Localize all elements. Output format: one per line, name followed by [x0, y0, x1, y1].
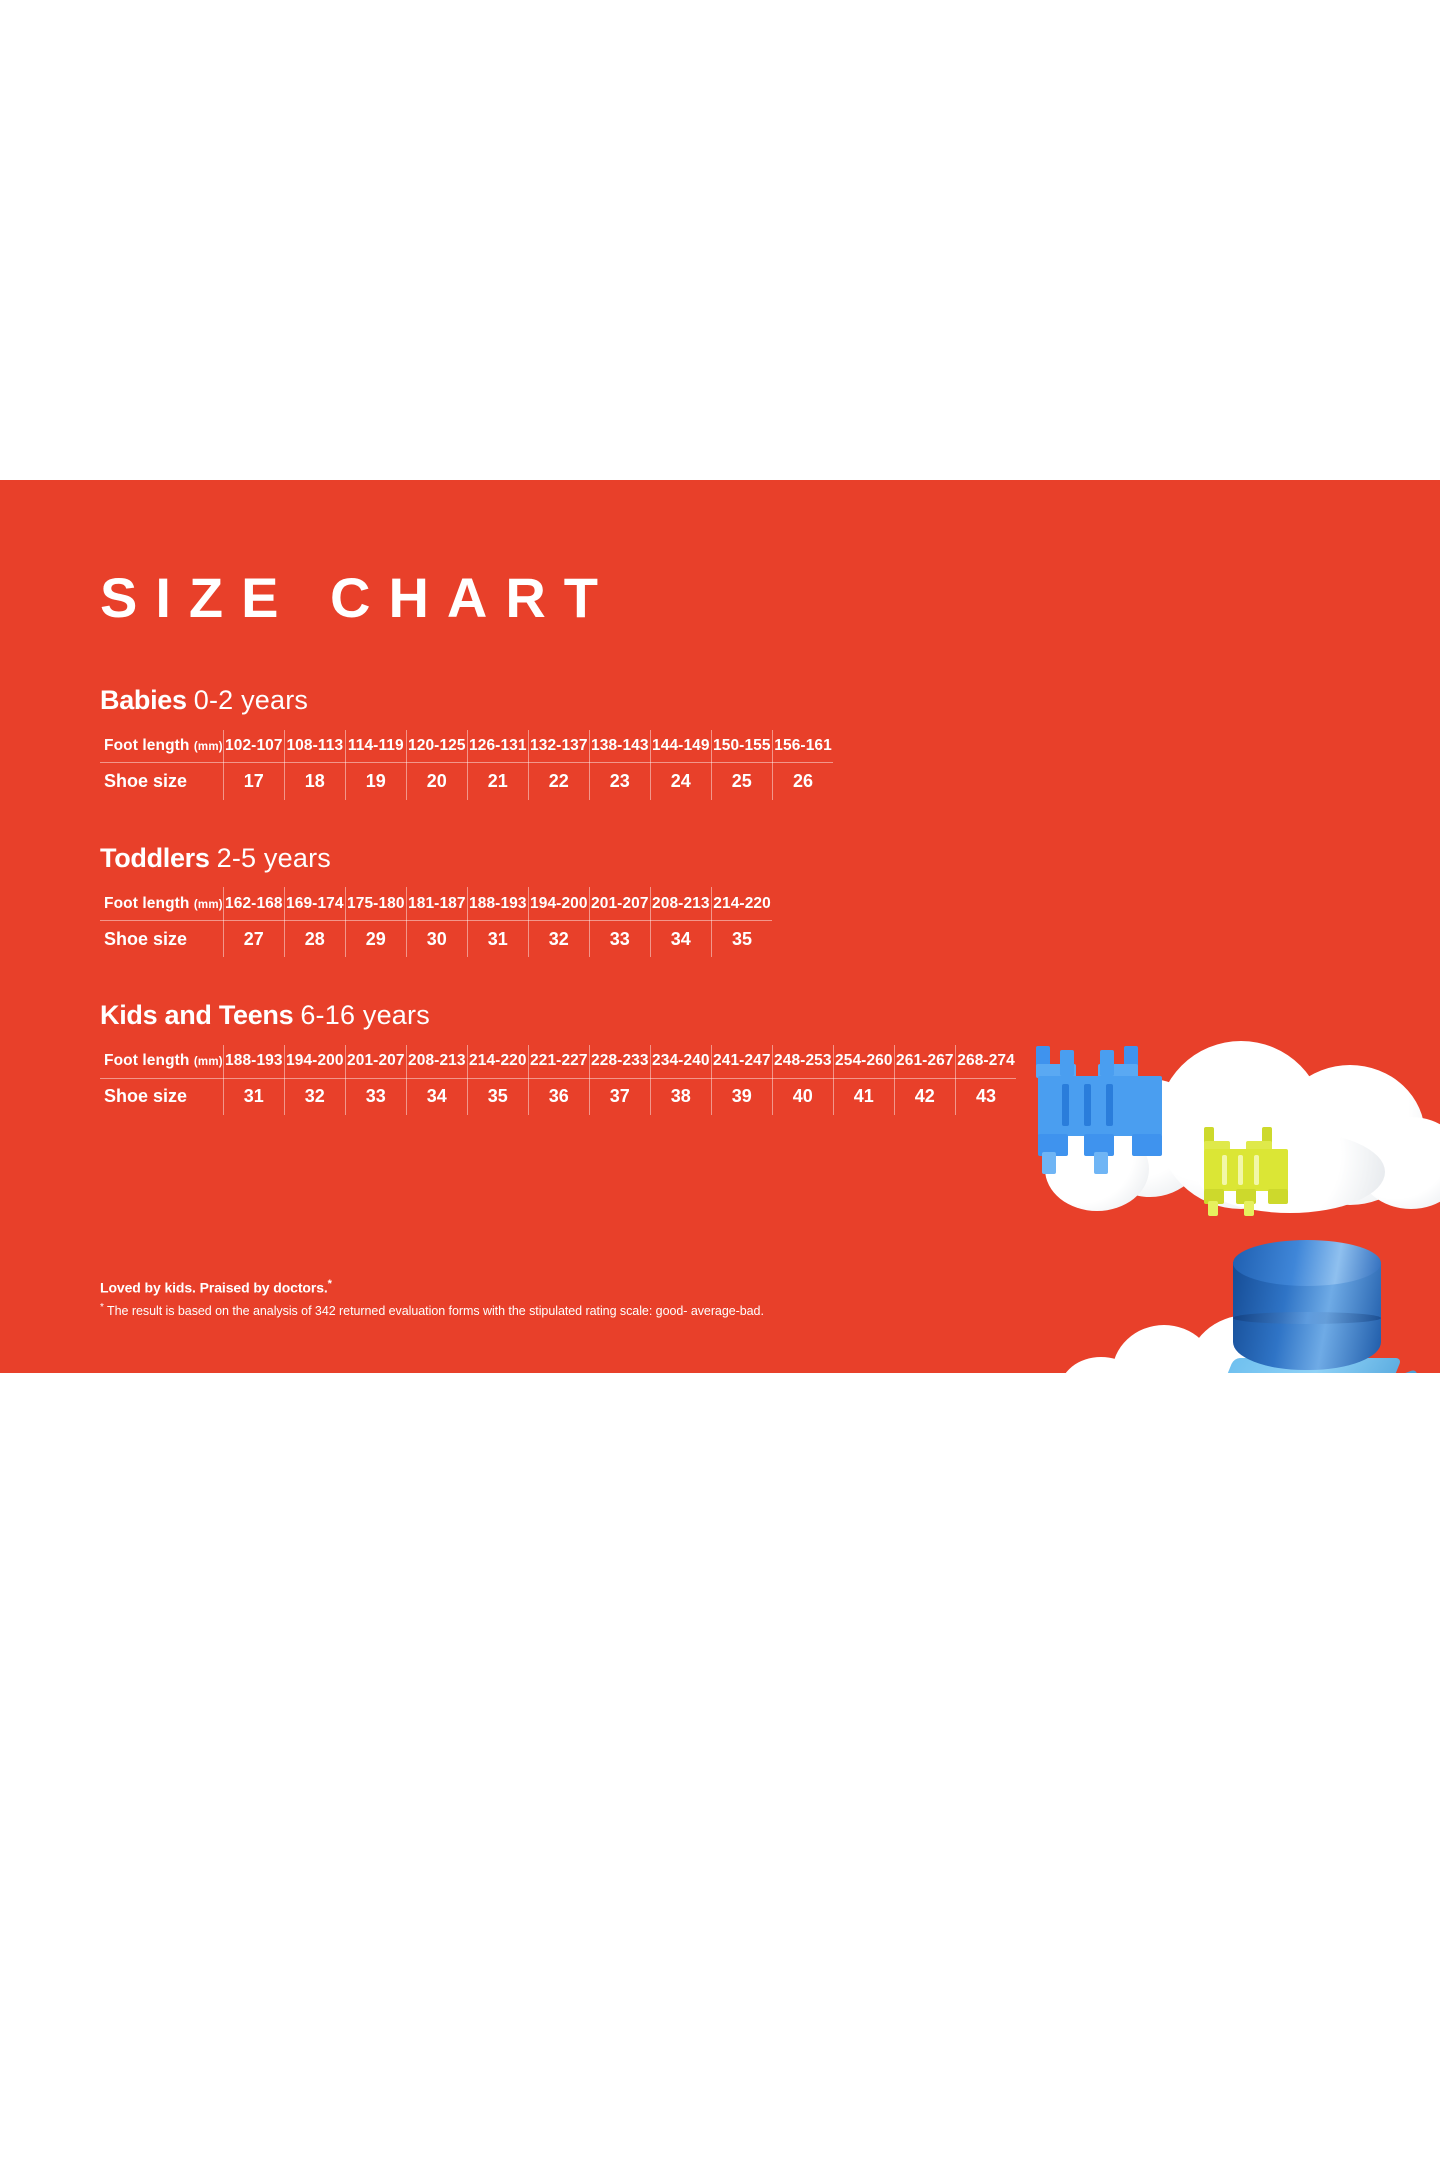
foot-length-cell: 132-137	[528, 730, 589, 763]
shoe-size-cell: 40	[772, 1078, 833, 1115]
row-label-shoe-size: Shoe size	[100, 1078, 223, 1115]
shoe-size-cell: 37	[589, 1078, 650, 1115]
foot-length-text: Foot length	[104, 737, 189, 754]
section-age: 6-16 years	[300, 1000, 430, 1030]
section-age: 2-5 years	[217, 843, 331, 873]
table-row-shoe-size: Shoe size 31323334353637383940414243	[100, 1078, 1016, 1115]
shoe-size-cell: 41	[833, 1078, 894, 1115]
shoe-size-cell: 32	[528, 920, 589, 957]
shoe-size-cell: 24	[650, 763, 711, 800]
shoe-size-cell: 42	[894, 1078, 955, 1115]
table-row-shoe-size: Shoe size 17181920212223242526	[100, 763, 833, 800]
foot-length-cell: 208-213	[406, 1045, 467, 1078]
footer-tagline-marker: *	[328, 1278, 332, 1290]
foot-length-cell: 234-240	[650, 1045, 711, 1078]
shoe-size-cell: 31	[467, 920, 528, 957]
shoe-size-cell: 31	[223, 1078, 284, 1115]
section-age: 0-2 years	[194, 685, 308, 715]
shoe-size-cell: 43	[955, 1078, 1016, 1115]
shoe-size-cell: 21	[467, 763, 528, 800]
section-name: Babies	[100, 685, 187, 715]
foot-length-cell: 214-220	[467, 1045, 528, 1078]
shoe-size-cell: 17	[223, 763, 284, 800]
foot-length-cell: 228-233	[589, 1045, 650, 1078]
foot-length-cell: 201-207	[345, 1045, 406, 1078]
foot-length-cell: 181-187	[406, 887, 467, 920]
size-sections: Babies0-2 years Foot length (mm) 102-107…	[100, 686, 1340, 1115]
shoe-size-cell: 32	[284, 1078, 345, 1115]
foot-length-cell: 221-227	[528, 1045, 589, 1078]
foot-length-cell: 214-220	[711, 887, 772, 920]
shoe-size-cell: 20	[406, 763, 467, 800]
foot-length-unit: (mm)	[194, 741, 223, 753]
table-row-foot-length: Foot length (mm) 188-193194-200201-20720…	[100, 1045, 1016, 1078]
size-chart-page: SIZE CHART Babies0-2 years Foot length (…	[0, 0, 1440, 2160]
foot-length-cell: 188-193	[467, 887, 528, 920]
row-label-shoe-size: Shoe size	[100, 763, 223, 800]
row-label-foot-length: Foot length (mm)	[100, 1045, 223, 1078]
foot-length-cell: 175-180	[345, 887, 406, 920]
foot-length-cell: 194-200	[528, 887, 589, 920]
foot-length-cell: 108-113	[284, 730, 345, 763]
shoe-size-cell: 34	[406, 1078, 467, 1115]
section-heading: Toddlers2-5 years	[100, 844, 1340, 874]
pixel-invader-yellow-icon	[1200, 1125, 1292, 1217]
footer-disclaimer-text: The result is based on the analysis of 3…	[104, 1304, 764, 1318]
section-name: Toddlers	[100, 843, 210, 873]
size-table-babies: Foot length (mm) 102-107108-113114-11912…	[100, 730, 833, 800]
block-toy-icon	[1195, 1240, 1440, 1373]
table-row-foot-length: Foot length (mm) 102-107108-113114-11912…	[100, 730, 833, 763]
row-label-foot-length: Foot length (mm)	[100, 887, 223, 920]
foot-length-cell: 162-168	[223, 887, 284, 920]
shoe-size-cell: 33	[345, 1078, 406, 1115]
shoe-size-cell: 36	[528, 1078, 589, 1115]
foot-length-cell: 114-119	[345, 730, 406, 763]
table-row-foot-length: Foot length (mm) 162-168169-174175-18018…	[100, 887, 772, 920]
foot-length-cell: 261-267	[894, 1045, 955, 1078]
foot-length-cell: 208-213	[650, 887, 711, 920]
row-label-foot-length: Foot length (mm)	[100, 730, 223, 763]
footer-note: Loved by kids. Praised by doctors.* * Th…	[100, 1278, 764, 1318]
footer-tagline: Loved by kids. Praised by doctors.*	[100, 1278, 764, 1296]
foot-length-cell: 156-161	[772, 730, 833, 763]
shoe-size-cell: 38	[650, 1078, 711, 1115]
shoe-size-cell: 30	[406, 920, 467, 957]
shoe-size-cell: 34	[650, 920, 711, 957]
shoe-size-cell: 23	[589, 763, 650, 800]
section-name: Kids and Teens	[100, 1000, 293, 1030]
foot-length-unit: (mm)	[194, 1056, 223, 1068]
shoe-size-cell: 27	[223, 920, 284, 957]
size-table-toddlers: Foot length (mm) 162-168169-174175-18018…	[100, 887, 772, 957]
foot-length-cell: 169-174	[284, 887, 345, 920]
shoe-size-cell: 35	[467, 1078, 528, 1115]
foot-length-cell: 201-207	[589, 887, 650, 920]
foot-length-cell: 268-274	[955, 1045, 1016, 1078]
foot-length-cell: 150-155	[711, 730, 772, 763]
foot-length-cell: 120-125	[406, 730, 467, 763]
foot-length-cell: 144-149	[650, 730, 711, 763]
page-title: SIZE CHART	[100, 570, 616, 626]
section-toddlers: Toddlers2-5 years Foot length (mm) 162-1…	[100, 844, 1340, 958]
shoe-size-cell: 33	[589, 920, 650, 957]
shoe-size-cell: 19	[345, 763, 406, 800]
foot-length-cell: 194-200	[284, 1045, 345, 1078]
footer-tagline-text: Loved by kids. Praised by doctors.	[100, 1280, 328, 1296]
row-label-shoe-size: Shoe size	[100, 920, 223, 957]
foot-length-cell: 254-260	[833, 1045, 894, 1078]
shoe-size-cell: 26	[772, 763, 833, 800]
section-heading: Babies0-2 years	[100, 686, 1340, 716]
foot-length-cell: 126-131	[467, 730, 528, 763]
foot-length-cell: 188-193	[223, 1045, 284, 1078]
section-babies: Babies0-2 years Foot length (mm) 102-107…	[100, 686, 1340, 800]
shoe-size-cell: 22	[528, 763, 589, 800]
shoe-size-cell: 29	[345, 920, 406, 957]
foot-length-cell: 241-247	[711, 1045, 772, 1078]
shoe-size-cell: 35	[711, 920, 772, 957]
foot-length-cell: 138-143	[589, 730, 650, 763]
shoe-size-cell: 39	[711, 1078, 772, 1115]
section-kids-and-teens: Kids and Teens6-16 years Foot length (mm…	[100, 1001, 1340, 1115]
foot-length-cell: 248-253	[772, 1045, 833, 1078]
foot-length-text: Foot length	[104, 895, 189, 912]
footer-disclaimer: * The result is based on the analysis of…	[100, 1302, 764, 1318]
table-row-shoe-size: Shoe size 272829303132333435	[100, 920, 772, 957]
size-table-kids-and-teens: Foot length (mm) 188-193194-200201-20720…	[100, 1045, 1016, 1115]
cloud-bottom-icon	[1060, 1315, 1360, 1373]
shoe-size-cell: 28	[284, 920, 345, 957]
foot-length-text: Foot length	[104, 1052, 189, 1069]
section-heading: Kids and Teens6-16 years	[100, 1001, 1340, 1031]
shoe-size-cell: 25	[711, 763, 772, 800]
foot-length-cell: 102-107	[223, 730, 284, 763]
shoe-size-cell: 18	[284, 763, 345, 800]
foot-length-unit: (mm)	[194, 899, 223, 911]
